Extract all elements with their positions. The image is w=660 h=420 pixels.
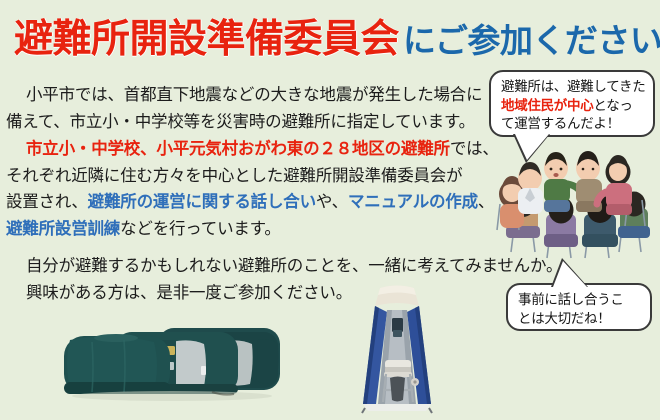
p2-line-3-blue-2: マニュアルの作成 <box>348 193 478 211</box>
speech-bubble-bottom-tail <box>553 261 587 287</box>
title-blue-text: にご参加ください！ <box>403 22 660 59</box>
p1-line-1: 小平市では、首都直下地震などの大きな地震が発生した場合に <box>6 82 492 109</box>
body-text-block: 小平市では、首都直下地震などの大きな地震が発生した場合に 備えて、市立小・中学校… <box>6 82 492 306</box>
bubble-top-line-1: 避難所は、避難してきた <box>501 78 645 97</box>
speech-bubble-bottom: 事前に話し合うこ とは大切だね！ <box>506 283 652 331</box>
paragraph-2: 市立小・中学校、小平元気村おがわ東の２８地区の避難所では、 それぞれ近隣に住む方… <box>6 136 492 242</box>
speech-bubble-top: 避難所は、避難してきた 地域住民が中心となっ て運営するんだよ！ <box>489 70 655 137</box>
p2-line-2: それぞれ近隣に住む方々を中心とした避難所開設準備委員会が <box>6 163 492 190</box>
p2-line-1-red: 市立小・中学校、小平元気村おがわ東の２８地区の避難所 <box>26 140 450 158</box>
p2-line-3-a: 設置され、 <box>6 193 88 211</box>
poster-root: 避難所開設準備委員会にご参加ください！ 小平市では、首都直下地震などの大きな地震… <box>0 0 660 420</box>
p2-line-1: 市立小・中学校、小平元気村おがわ東の２８地区の避難所では、 <box>6 136 492 163</box>
p2-line-4-blue: 避難所設営訓練 <box>6 220 120 238</box>
green-privacy-tents-photo <box>62 324 282 410</box>
p2-line-4: 避難所設営訓練などを行っています。 <box>6 216 492 243</box>
bubble-bottom-line-2: とは大切だね！ <box>518 310 642 329</box>
blue-toilet-tent-photo <box>352 282 442 416</box>
p2-line-3: 設置され、避難所の運営に関する話し合いや、マニュアルの作成、 <box>6 189 492 216</box>
bubble-top-line-2-rest: となっ <box>593 98 632 113</box>
p2-line-3-c: や、 <box>316 193 348 211</box>
page-title: 避難所開設準備委員会にご参加ください！ <box>14 12 654 68</box>
title-red-text: 避難所開設準備委員会 <box>14 18 399 61</box>
paragraph-1: 小平市では、首都直下地震などの大きな地震が発生した場合に 備えて、市立小・中学校… <box>6 82 492 135</box>
p1-line-2: 備えて、市立小・中学校等を災害時の避難所に指定しています。 <box>6 109 492 136</box>
p2-line-3-blue-1: 避難所の運営に関する話し合い <box>88 193 316 211</box>
p3-line-1: 自分が避難するかもしれない避難所のことを、一緒に考えてみませんか。 <box>6 253 492 280</box>
p2-line-4-rest: などを行っています。 <box>120 220 281 238</box>
bubble-top-line-2-red: 地域住民が中心 <box>501 98 593 113</box>
speech-bubble-top-tail <box>515 134 549 160</box>
bubble-bottom-line-1: 事前に話し合うこ <box>518 291 642 310</box>
bubble-top-line-2: 地域住民が中心となっ <box>501 97 645 116</box>
bubble-top-line-3: て運営するんだよ！ <box>501 115 645 134</box>
